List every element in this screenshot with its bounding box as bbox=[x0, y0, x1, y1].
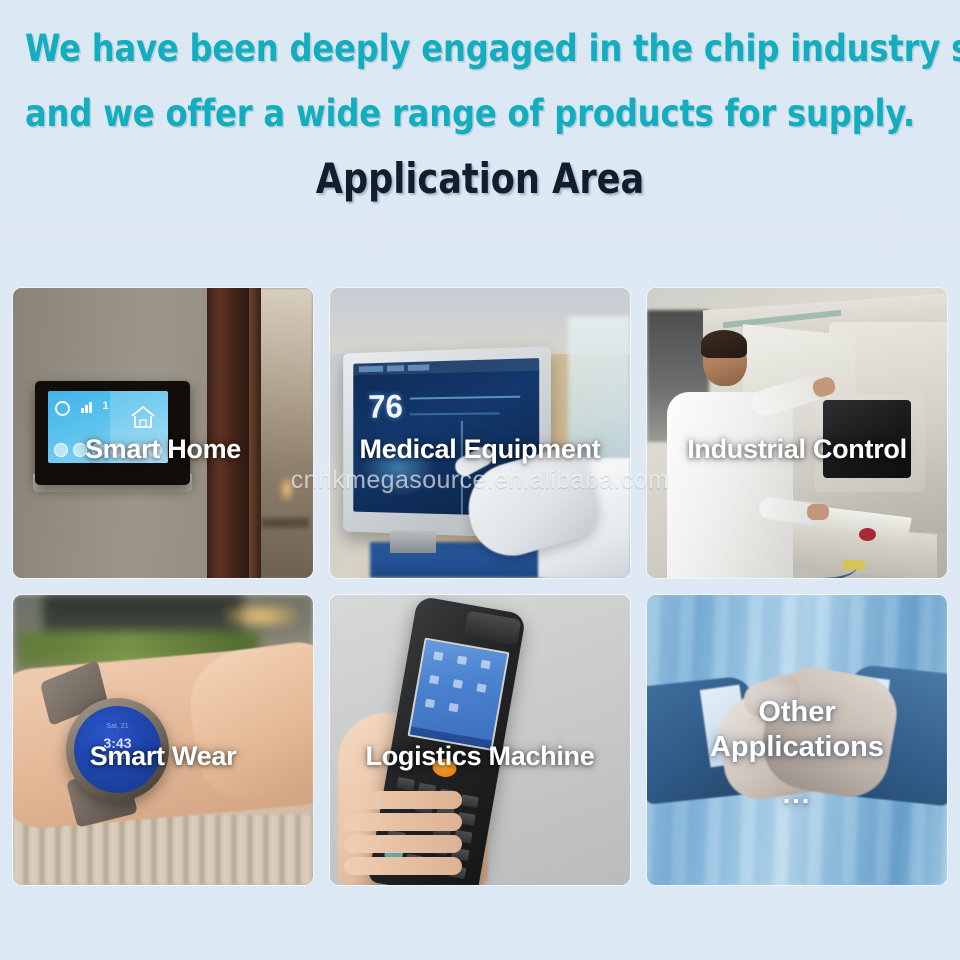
industrial-control-photo bbox=[647, 288, 947, 578]
screen-status-icons: 1 bbox=[55, 401, 109, 416]
smart-home-control-panel: 1 bbox=[35, 381, 190, 485]
watch-time: 3:43 bbox=[74, 736, 161, 750]
vital-sign-reading: 76 bbox=[368, 390, 403, 423]
room-shelf bbox=[261, 518, 309, 528]
logistics-machine-photo bbox=[330, 595, 630, 885]
sun-icon bbox=[55, 401, 70, 416]
application-card-grid: 1 bbox=[13, 288, 947, 885]
monitor-status-bar bbox=[353, 358, 539, 375]
waveform-line bbox=[410, 396, 520, 400]
background-lights bbox=[225, 603, 297, 629]
smartwatch: Sat, 21 3:43 Thursday bbox=[66, 698, 169, 801]
application-card-smart-wear[interactable]: Sat, 21 3:43 Thursday Smart Wear bbox=[13, 595, 313, 885]
application-card-medical-equipment[interactable]: 76 Medical Equipment bbox=[330, 288, 630, 578]
door-edge bbox=[249, 288, 261, 578]
watch-weekday: Sat, 21 bbox=[74, 723, 161, 731]
app-icon bbox=[110, 443, 124, 457]
door-frame bbox=[207, 288, 251, 578]
app-icon bbox=[73, 443, 87, 457]
lab-coat bbox=[667, 392, 793, 578]
card-label-line-1: Other bbox=[647, 695, 947, 729]
app-icon bbox=[148, 443, 162, 457]
fingers bbox=[344, 791, 470, 881]
control-panel-screen: 1 bbox=[48, 391, 168, 463]
lower-hand bbox=[807, 504, 829, 520]
card-label-line-3: ... bbox=[647, 781, 947, 807]
scanner-head bbox=[464, 611, 522, 646]
medical-equipment-photo: 76 bbox=[330, 288, 630, 578]
headline-line-1: We have been deeply engaged in the chip … bbox=[25, 22, 908, 74]
monitor-stand bbox=[390, 531, 436, 553]
emergency-stop-button bbox=[859, 528, 876, 541]
smart-home-photo: 1 bbox=[13, 288, 313, 578]
headline: We have been deeply engaged in the chip … bbox=[25, 22, 950, 139]
headline-line-2: and we offer a wide range of products fo… bbox=[25, 87, 908, 139]
signal-bars-icon bbox=[81, 401, 92, 413]
application-card-other-applications[interactable]: Other Applications ... bbox=[647, 595, 947, 885]
watch-date: Thursday bbox=[74, 754, 161, 762]
app-icon bbox=[54, 443, 68, 457]
screen-app-icons bbox=[54, 442, 162, 457]
application-card-industrial-control[interactable]: Industrial Control bbox=[647, 288, 947, 578]
crt-monitor-screen bbox=[823, 400, 911, 478]
navigation-button bbox=[431, 757, 458, 779]
card-label-other-applications: Other Applications ... bbox=[647, 695, 947, 807]
terminal-taskbar bbox=[410, 726, 492, 748]
app-icon bbox=[92, 443, 106, 457]
application-card-smart-home[interactable]: 1 bbox=[13, 288, 313, 578]
page-title: Application Area bbox=[34, 155, 927, 203]
waveform-line bbox=[410, 412, 500, 415]
app-icon bbox=[129, 443, 143, 457]
temperature-value: 1 bbox=[103, 401, 109, 412]
card-label-line-2: Applications bbox=[647, 729, 947, 765]
waveform-glow bbox=[363, 439, 436, 497]
technician-hair bbox=[701, 330, 747, 358]
application-card-logistics-machine[interactable]: Logistics Machine bbox=[330, 595, 630, 885]
room-lamp-glow bbox=[279, 476, 295, 502]
background-room bbox=[257, 288, 313, 578]
watch-face: Sat, 21 3:43 Thursday bbox=[74, 706, 161, 793]
application-area-banner: We have been deeply engaged in the chip … bbox=[0, 0, 960, 960]
terminal-screen bbox=[407, 637, 509, 750]
smart-wear-photo: Sat, 21 3:43 Thursday bbox=[13, 595, 313, 885]
